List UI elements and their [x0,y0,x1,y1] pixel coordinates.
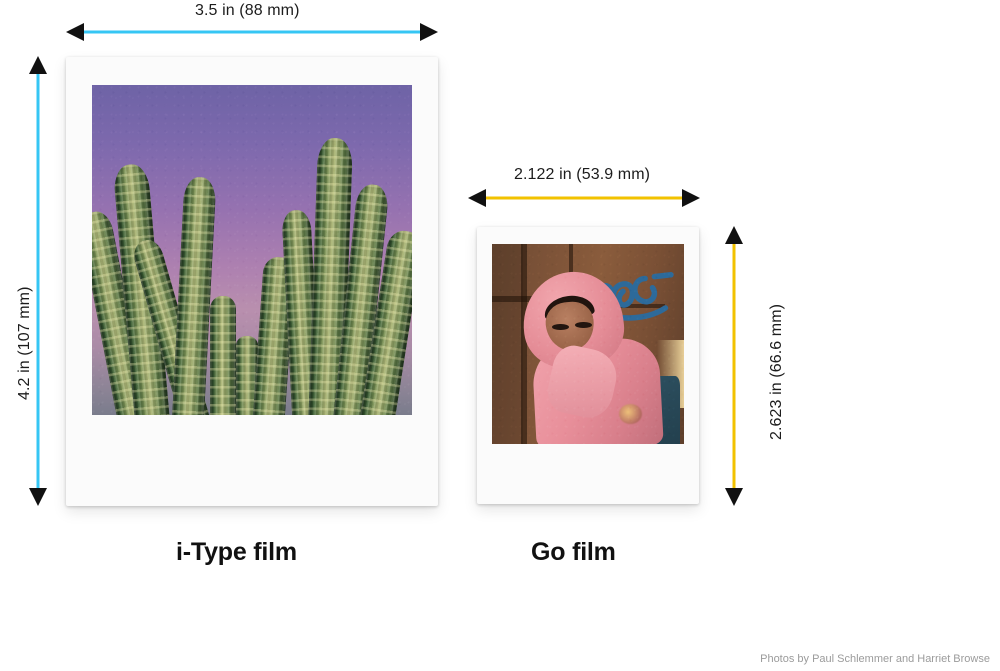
itype-caption: i-Type film [176,538,297,567]
go-width-label: 2.122 in (53.9 mm) [514,166,650,184]
comparison-diagram: 3.5 in (88 mm) 4.2 in (107 mm) [0,0,1000,671]
itype-polaroid-frame [66,57,438,506]
itype-width-label: 3.5 in (88 mm) [195,2,300,20]
hoodie-scene [492,244,684,444]
go-polaroid-frame [477,227,699,504]
go-caption: Go film [531,538,616,567]
itype-photo [92,85,412,415]
itype-width-arrow [66,22,438,42]
go-photo [492,244,684,444]
photo-credit: Photos by Paul Schlemmer and Harriet Bro… [760,653,990,665]
go-height-label: 2.623 in (66.6 mm) [768,304,786,440]
cactus-scene [92,85,412,415]
itype-height-arrow [28,56,48,506]
go-width-arrow [468,188,700,208]
go-height-arrow [724,226,744,506]
